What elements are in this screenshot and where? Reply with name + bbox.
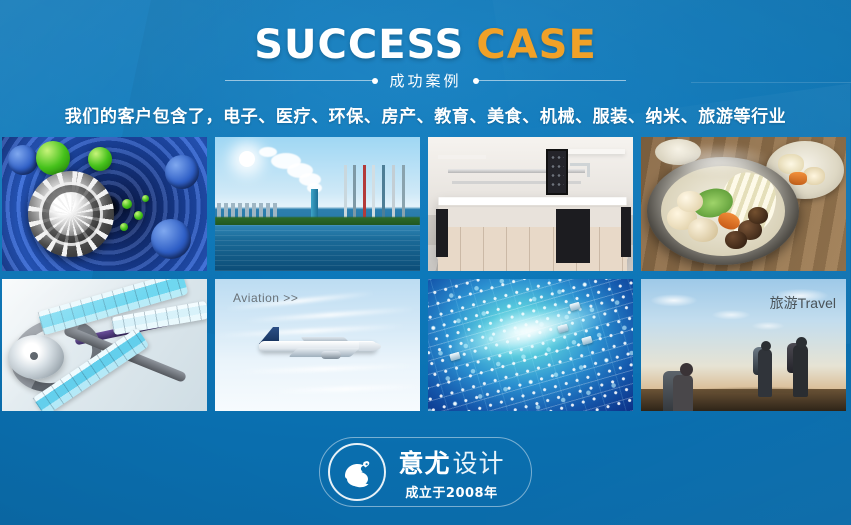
lab-bench-panel: [621, 207, 631, 257]
divider-line-left: [225, 80, 375, 81]
chicken-piece: [688, 218, 718, 242]
industrial-plant: [344, 165, 412, 225]
nano-sphere-green: [120, 223, 128, 231]
page-subtitle: 成功案例: [389, 70, 461, 91]
hiker-head: [680, 363, 693, 376]
nano-sphere-green: [88, 147, 112, 171]
hiker-figure: [663, 361, 703, 411]
page-title-white: SUCCESS: [254, 22, 464, 68]
gallery-item-label: Aviation >>: [233, 291, 298, 305]
divider-dot-right: [473, 78, 479, 84]
gallery-item-medical-equipment[interactable]: [2, 279, 207, 411]
logo-since-text: 成立于2008年: [405, 482, 497, 501]
gallery-item-electronics-circuit[interactable]: [428, 279, 633, 411]
mushroom: [725, 231, 747, 249]
nano-sphere-green: [36, 141, 70, 175]
cloud-streak: [271, 384, 420, 393]
nano-sphere-blue: [8, 145, 38, 175]
case-gallery-grid: Aviation >>: [2, 137, 849, 411]
page-title-orange: CASE: [476, 22, 596, 68]
steam: [661, 143, 771, 177]
plate-food: [778, 154, 804, 174]
gallery-item-environmental-protection[interactable]: [215, 137, 420, 271]
gallery-item-food-hotpot[interactable]: [641, 137, 846, 271]
cloud-streak: [245, 307, 415, 323]
lab-control-panel: [546, 149, 568, 195]
page-title: SUCCESSCASE: [0, 22, 851, 68]
hiker-head: [761, 341, 771, 351]
tagline: 我们的客户包含了，电子、医疗、环保、房产、教育、美食、机械、服装、纳米、旅游等行…: [0, 102, 851, 127]
lab-faucet-icon: [570, 163, 590, 166]
gallery-item-laboratory-furniture[interactable]: [428, 137, 633, 271]
nano-sphere-blue: [151, 219, 191, 259]
subtitle-row: 成功案例: [0, 70, 851, 91]
gallery-item-travel-hiking[interactable]: 旅游Travel: [641, 279, 846, 411]
brand-logo[interactable]: 意尤 设计 成立于2008年: [319, 437, 531, 507]
airplane-engine: [321, 351, 341, 359]
footer-logo-area: 意尤 设计 成立于2008年: [0, 437, 851, 507]
hiker-figure: [787, 335, 815, 397]
logo-name-light: 设计: [453, 444, 505, 480]
hiker-figure: [753, 339, 779, 397]
lab-wall-ledge: [438, 155, 486, 159]
plate-food: [789, 172, 807, 185]
gallery-item-label: 旅游Travel: [770, 293, 836, 313]
water-surface: [215, 225, 420, 271]
mushroom: [748, 207, 768, 224]
logo-text-block: 意尤 设计 成立于2008年: [398, 444, 504, 501]
airplane: [259, 331, 379, 357]
chicken-piece: [677, 191, 703, 212]
lab-bench-panel: [436, 209, 448, 257]
hiker-body: [793, 345, 808, 397]
lab-wall-ledge: [559, 149, 625, 154]
divider-dot-left: [372, 78, 378, 84]
nano-sphere-green: [142, 195, 149, 202]
hiker-head: [796, 337, 807, 348]
nano-sphere-blue: [165, 155, 199, 189]
header: SUCCESSCASE 成功案例 我们的客户包含了，电子、医疗、环保、房产、教育…: [0, 0, 851, 130]
gallery-item-aviation[interactable]: Aviation >>: [215, 279, 420, 411]
image-gloss: [2, 279, 207, 411]
logo-circle: [328, 443, 386, 501]
nano-sphere-green: [122, 199, 132, 209]
logo-name-strong: 意尤: [398, 444, 450, 480]
gallery-item-nanotechnology[interactable]: [2, 137, 207, 271]
smoke-cloud: [259, 147, 277, 157]
divider-line-right: [476, 80, 626, 81]
nano-sphere-green: [134, 211, 143, 220]
lab-bench-panel: [556, 209, 590, 263]
airplane-nose: [359, 342, 381, 351]
logo-name: 意尤 设计: [398, 444, 504, 480]
fullerene-cage-icon: [28, 171, 114, 257]
swan-bird-icon: [337, 452, 377, 492]
hiker-body: [673, 375, 693, 411]
cloud-streak: [235, 364, 415, 374]
sun-icon: [239, 151, 255, 167]
hotpot-contents: [661, 166, 785, 256]
hiker-body: [758, 349, 772, 397]
